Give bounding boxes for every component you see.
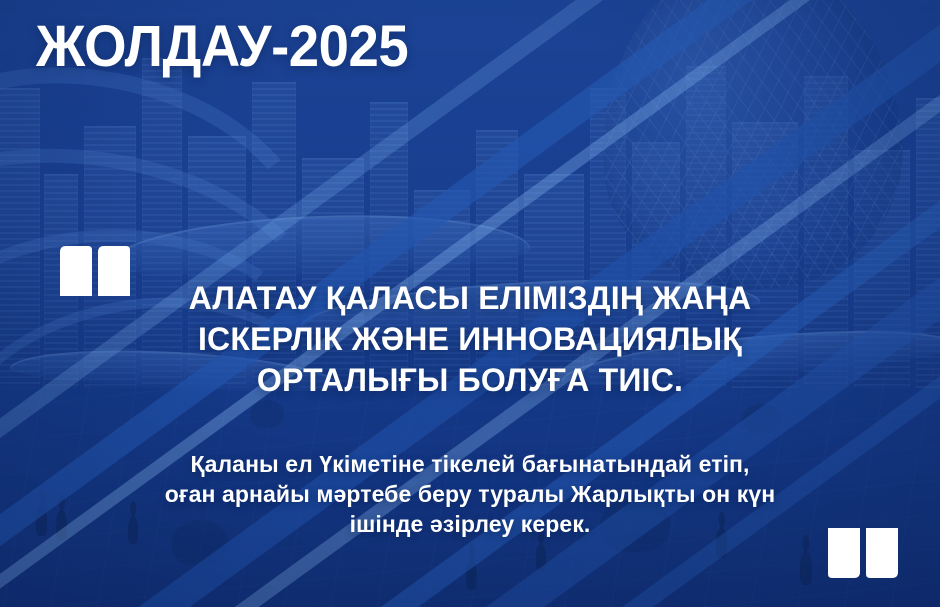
quote-main-line: АЛАТАУ ҚАЛАСЫ ЕЛІМІЗДІҢ ЖАҢА — [70, 278, 870, 319]
quote-sub-line: ішінде әзірлеу керек. — [60, 509, 880, 539]
quote-main-line: ІСКЕРЛІК ЖӘНЕ ИННОВАЦИЯЛЫҚ — [70, 319, 870, 360]
page-title: ЖОЛДАУ-2025 — [36, 18, 408, 76]
quote-sub-text: Қаланы ел Үкіметіне тікелей бағынатындай… — [60, 449, 880, 539]
quote-sub-line: оған арнайы мәртебе беру туралы Жарлықты… — [60, 479, 880, 509]
quote-sub-line: Қаланы ел Үкіметіне тікелей бағынатындай… — [60, 449, 880, 479]
address-2025-poster: ЖОЛДАУ-2025 АЛАТАУ ҚАЛАСЫ ЕЛІМІЗДІҢ ЖАҢА… — [0, 0, 940, 607]
quote-main-text: АЛАТАУ ҚАЛАСЫ ЕЛІМІЗДІҢ ЖАҢА ІСКЕРЛІК ЖӘ… — [70, 278, 870, 401]
quote-main-line: ОРТАЛЫҒЫ БОЛУҒА ТИІС. — [70, 360, 870, 401]
quote-close-icon — [826, 528, 900, 578]
poster-content: ЖОЛДАУ-2025 АЛАТАУ ҚАЛАСЫ ЕЛІМІЗДІҢ ЖАҢА… — [0, 0, 940, 607]
